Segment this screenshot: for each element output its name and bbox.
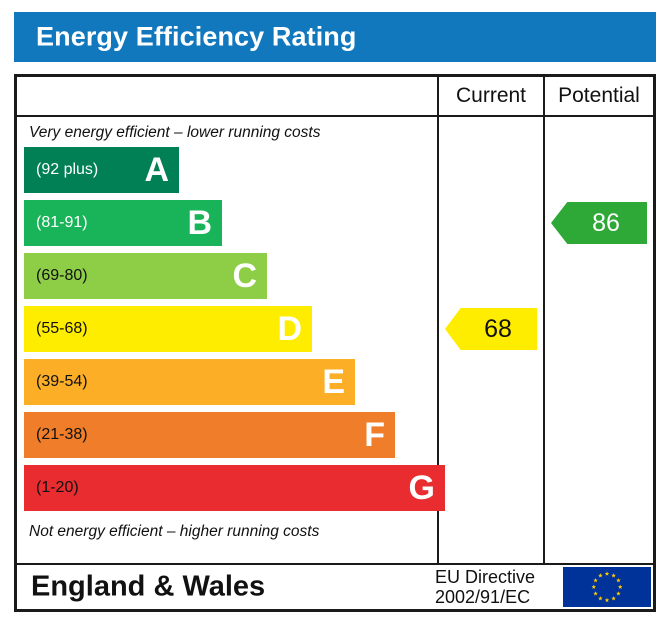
band-letter-b: B	[187, 206, 212, 240]
page-title: Energy Efficiency Rating	[36, 22, 356, 53]
chart-title-bar: Energy Efficiency Rating	[14, 12, 656, 62]
band-row-a: (92 plus)A	[24, 147, 179, 193]
certificate-footer: England & Wales EU Directive 2002/91/EC	[17, 563, 653, 609]
band-row-f: (21-38)F	[24, 412, 395, 458]
band-row-c: (69-80)C	[24, 253, 267, 299]
band-bar-g: (1-20)G	[24, 465, 445, 511]
region-label: England & Wales	[31, 571, 265, 604]
band-range-c: (69-80)	[36, 267, 88, 285]
rating-bands: (92 plus)A(81-91)B(69-80)C(55-68)D(39-54…	[17, 147, 437, 519]
column-header-current: Current	[437, 77, 543, 115]
eu-directive-line1: EU Directive	[435, 567, 535, 587]
band-letter-e: E	[322, 365, 345, 399]
band-letter-d: D	[277, 312, 302, 346]
band-letter-a: A	[144, 153, 169, 187]
band-range-a: (92 plus)	[36, 161, 98, 179]
band-range-b: (81-91)	[36, 214, 88, 232]
band-bar-e: (39-54)E	[24, 359, 355, 405]
column-divider-potential	[543, 117, 545, 563]
eu-directive-label: EU Directive 2002/91/EC	[435, 567, 535, 607]
column-header-current-label: Current	[456, 84, 526, 108]
caption-inefficient: Not energy efficient – higher running co…	[29, 523, 319, 541]
band-letter-f: F	[364, 418, 385, 452]
potential-rating-value: 86	[592, 209, 620, 238]
band-row-d: (55-68)D	[24, 306, 312, 352]
current-rating-arrow: 68	[445, 308, 537, 350]
band-letter-c: C	[232, 259, 257, 293]
table-header-row: Current Potential	[17, 77, 653, 117]
band-bar-b: (81-91)B	[24, 200, 222, 246]
rating-table: Current Potential Very energy efficient …	[14, 74, 656, 612]
eu-directive-line2: 2002/91/EC	[435, 587, 535, 607]
energy-efficiency-certificate: Energy Efficiency Rating Current Potenti…	[0, 0, 670, 627]
band-row-e: (39-54)E	[24, 359, 355, 405]
column-header-potential: Potential	[543, 77, 653, 115]
column-header-potential-label: Potential	[558, 84, 640, 108]
band-range-f: (21-38)	[36, 426, 88, 444]
band-letter-g: G	[409, 471, 435, 505]
band-bar-a: (92 plus)A	[24, 147, 179, 193]
band-row-b: (81-91)B	[24, 200, 222, 246]
band-bar-c: (69-80)C	[24, 253, 267, 299]
eu-flag-icon	[563, 567, 651, 607]
band-range-g: (1-20)	[36, 479, 79, 497]
band-range-d: (55-68)	[36, 320, 88, 338]
band-range-e: (39-54)	[36, 373, 88, 391]
caption-efficient: Very energy efficient – lower running co…	[29, 124, 321, 142]
potential-rating-arrow: 86	[551, 202, 647, 244]
band-bar-d: (55-68)D	[24, 306, 312, 352]
band-row-g: (1-20)G	[24, 465, 445, 511]
band-bar-f: (21-38)F	[24, 412, 395, 458]
current-rating-value: 68	[484, 315, 512, 344]
